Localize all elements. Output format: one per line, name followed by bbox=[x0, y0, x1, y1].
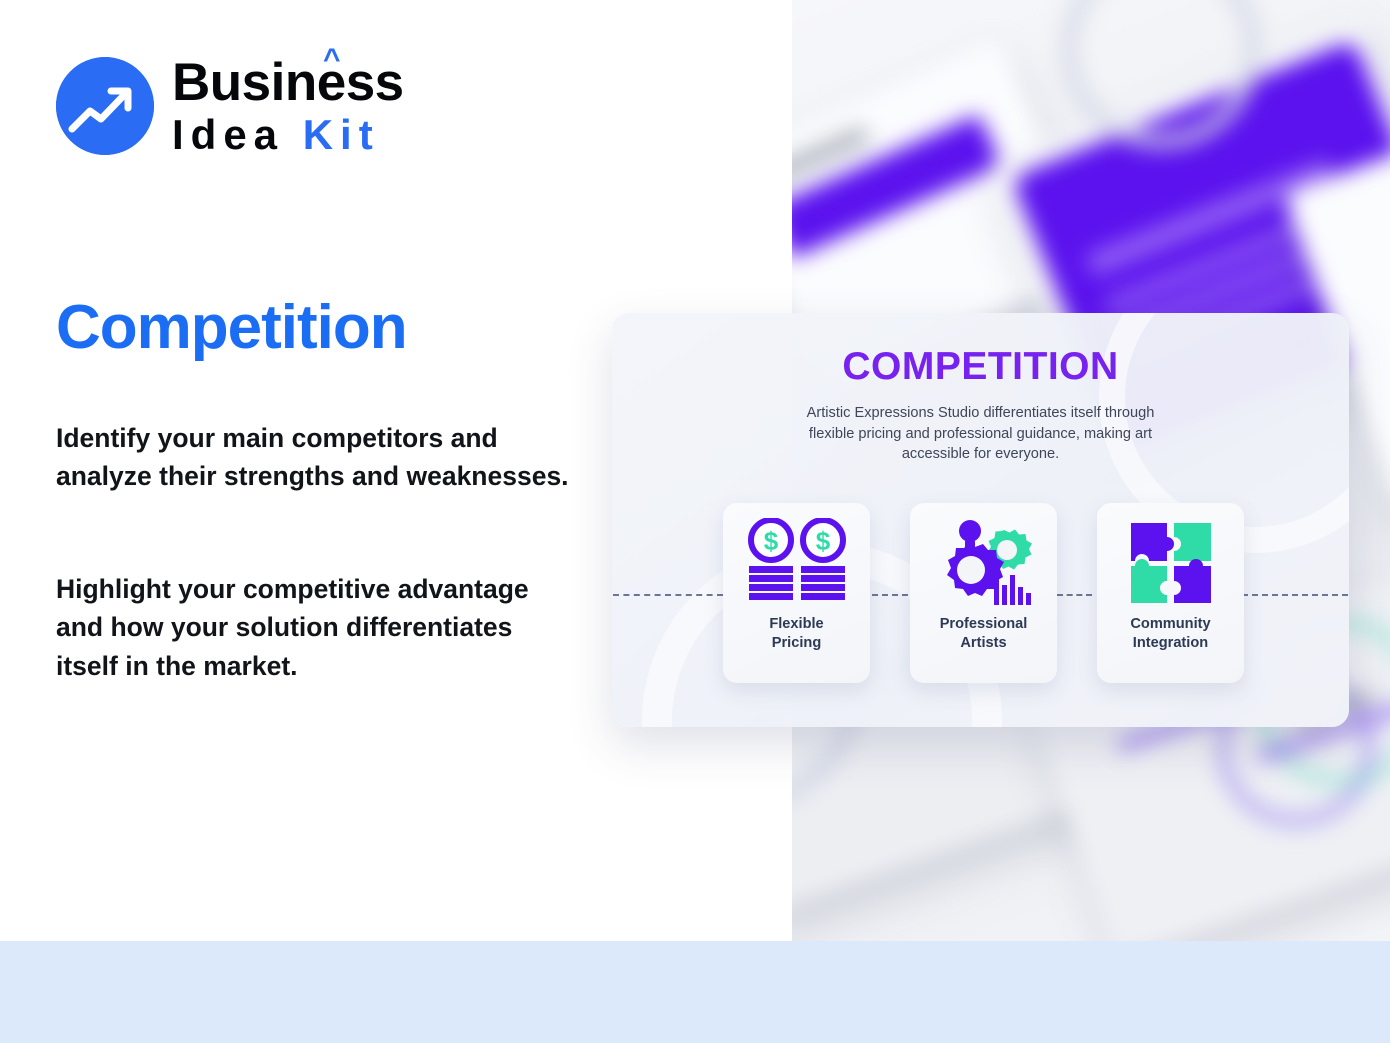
brand-name-line1: Business ^ bbox=[172, 56, 404, 109]
puzzle-pieces-icon bbox=[1127, 517, 1215, 609]
connector-dash-right bbox=[1242, 594, 1348, 596]
coin-stacks-dollar-icon: $ $ bbox=[745, 517, 849, 609]
description-paragraph-1: Identify your main competitors and analy… bbox=[56, 419, 576, 496]
brand-name-line2: Idea Kit bbox=[172, 114, 404, 156]
brand-kit-text: Kit bbox=[303, 111, 380, 158]
gears-lightbulb-chart-icon bbox=[932, 517, 1036, 609]
preview-card-title: COMPETITION bbox=[612, 313, 1349, 389]
feature-tile-label: Community Integration bbox=[1130, 615, 1210, 652]
svg-text:$: $ bbox=[763, 526, 778, 556]
feature-tile-community-integration[interactable]: Community Integration bbox=[1097, 503, 1244, 683]
page-title: Competition bbox=[56, 295, 407, 360]
caret-accent-icon: ^ bbox=[323, 45, 340, 75]
feature-tile-professional-artists[interactable]: Professional Artists bbox=[910, 503, 1057, 683]
brand-name-text: Business bbox=[172, 53, 404, 112]
brand-wordmark: Business ^ Idea Kit bbox=[172, 56, 404, 156]
feature-tile-label: Flexible Pricing bbox=[769, 615, 823, 652]
feature-tile-label: Professional Artists bbox=[940, 615, 1028, 652]
bottom-accent-strip bbox=[0, 941, 1390, 1043]
connector-dash-left bbox=[613, 594, 723, 596]
feature-tile-flexible-pricing[interactable]: $ $ Flexible Pri bbox=[723, 503, 870, 683]
growth-arrow-circle-icon bbox=[56, 57, 154, 155]
brand-logo[interactable]: Business ^ Idea Kit bbox=[56, 56, 404, 156]
feature-tile-row: $ $ Flexible Pri bbox=[723, 503, 1244, 683]
description-paragraph-2: Highlight your competitive advantage and… bbox=[56, 570, 576, 685]
svg-text:$: $ bbox=[815, 526, 830, 556]
preview-card-description: Artistic Expressions Studio differentiat… bbox=[801, 403, 1161, 465]
slide-canvas: Business ^ Idea Kit Competition Identify… bbox=[0, 0, 1390, 1043]
brand-idea-text: Idea bbox=[172, 111, 303, 158]
